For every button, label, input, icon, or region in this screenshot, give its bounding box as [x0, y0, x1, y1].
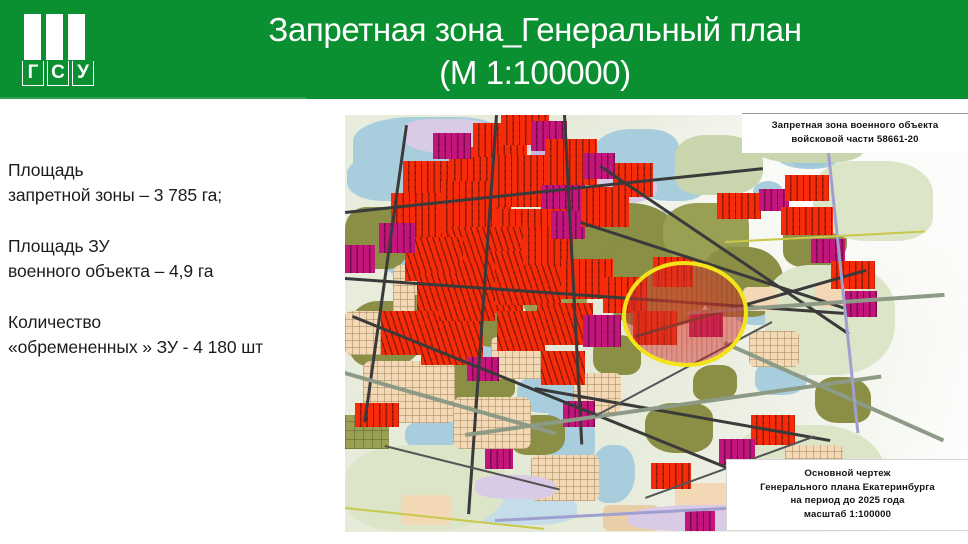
stat-military-site-area: Площадь ЗУ военного объекта – 4,9 га: [8, 234, 328, 284]
map-residential-block: [355, 403, 399, 427]
page-title-line-1: Запретная зона_Генеральный план: [120, 8, 950, 52]
map-label-line: Генерального плана Екатеринбурга: [733, 481, 962, 495]
page-title-line-2: (М 1:100000): [120, 52, 950, 94]
header-bottom-accent: [306, 93, 968, 99]
logo-letter-g: Г: [22, 61, 44, 86]
restricted-zone-outline: [622, 261, 748, 367]
map-label-restricted-zone: Запретная зона военного объекта войсково…: [742, 113, 968, 153]
header-banner: Г С У Запретная зона_Генеральный план (М…: [0, 0, 968, 99]
stat-line: «обремененных » ЗУ - 4 180 шт: [8, 335, 328, 360]
map-residential-block: [781, 207, 833, 235]
map-label-line: на период до 2025 года: [733, 494, 962, 508]
stat-line: Площадь: [8, 158, 328, 183]
logo-bar-3: [68, 14, 85, 60]
map-label-line: Основной чертеж: [733, 467, 962, 481]
logo-bar-1: [24, 14, 41, 60]
logo-letter-u: У: [72, 61, 94, 86]
map-mixed-use-block: [685, 511, 715, 531]
logo-letters: Г С У: [22, 61, 94, 86]
stat-line: Количество: [8, 310, 328, 335]
stat-line: военного объекта – 4,9 га: [8, 259, 328, 284]
map-low-density-area: [401, 495, 451, 525]
stat-restricted-zone-area: Площадь запретной зоны – 3 785 га;: [8, 158, 328, 208]
map-label-line: войсковой части 58661-20: [748, 133, 962, 147]
gsu-logo: Г С У: [22, 14, 98, 86]
map-mixed-use-block: [433, 133, 471, 159]
map-label-line: масштаб 1:100000: [733, 508, 962, 522]
map-label-general-plan: Основной чертеж Генерального плана Екате…: [727, 460, 968, 530]
stat-line: Площадь ЗУ: [8, 234, 328, 259]
map-label-line: Запретная зона военного объекта: [748, 119, 962, 133]
logo-bar-2: [46, 14, 63, 60]
map-residential-block: [717, 193, 761, 219]
map-mixed-use-block: [485, 449, 513, 469]
map-mixed-use-block: [583, 315, 621, 347]
map-mixed-use-block: [379, 223, 415, 253]
stat-line: запретной зоны – 3 785 га;: [8, 183, 328, 208]
map-residential-block: [651, 463, 691, 489]
page-title: Запретная зона_Генеральный план (М 1:100…: [120, 8, 950, 94]
map-residential-block: [497, 311, 545, 351]
map-residential-block: [785, 175, 829, 201]
map-low-density-area: [749, 331, 799, 367]
map-mixed-use-block: [345, 245, 375, 273]
restricted-zone-highlight[interactable]: [622, 261, 748, 367]
stat-encumbered-parcels-count: Количество «обремененных » ЗУ - 4 180 шт: [8, 310, 328, 360]
statistics-panel: Площадь запретной зоны – 3 785 га; Площа…: [8, 158, 328, 360]
map-mixed-use-block: [845, 291, 877, 317]
logo-letter-s: С: [47, 61, 69, 86]
